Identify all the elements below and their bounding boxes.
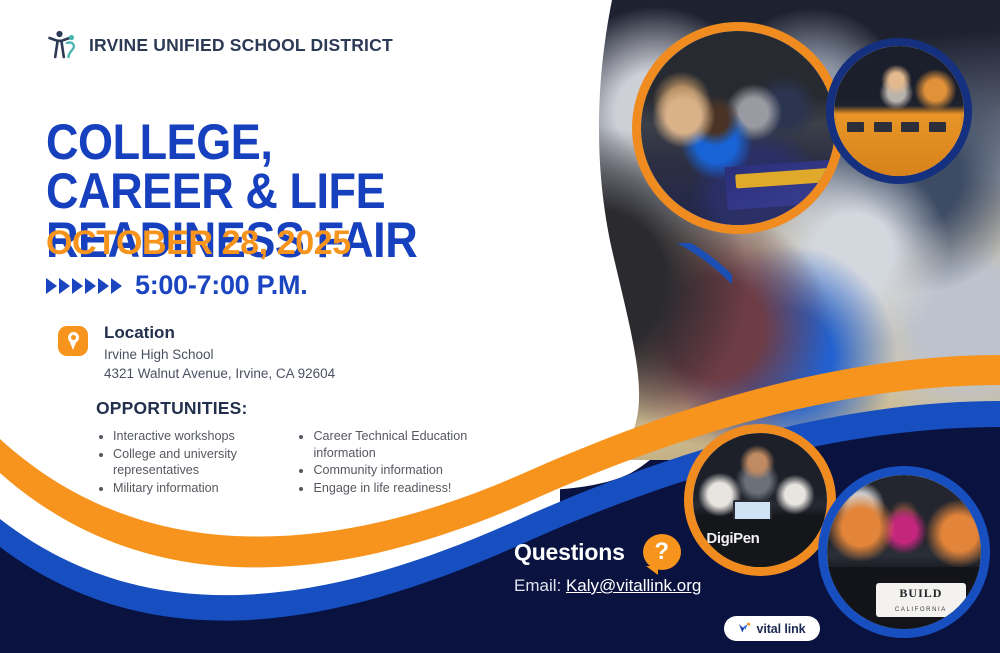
- flyer-canvas: DigiPen BUILD CALIFORNIA IRVIN: [0, 0, 1000, 653]
- email-link[interactable]: Kaly@vitallink.org: [566, 576, 701, 595]
- triangle-right-icon: [46, 278, 122, 294]
- question-mark-glyph: ?: [643, 534, 681, 570]
- digipen-table-skirt: DigiPen: [693, 519, 827, 567]
- district-brand: IRVINE UNIFIED SCHOOL DISTRICT: [46, 28, 393, 62]
- location-label: Location: [104, 323, 335, 343]
- list-item: Engage in life readiness!: [313, 480, 496, 497]
- photo-build-california-booth: BUILD CALIFORNIA: [827, 475, 981, 629]
- event-time-row: 5:00-7:00 P.M.: [46, 270, 307, 301]
- location-block: Location Irvine High School 4321 Walnut …: [58, 322, 335, 383]
- questions-label: Questions: [514, 539, 625, 566]
- location-text: Location Irvine High School 4321 Walnut …: [104, 322, 335, 383]
- location-address: 4321 Walnut Avenue, Irvine, CA 92604: [104, 364, 335, 383]
- list-item: Military information: [113, 480, 274, 497]
- event-date: OCTOBER 28, 2025: [46, 224, 351, 263]
- vital-link-v-icon: [738, 622, 751, 635]
- opportunities-column-1: Interactive workshops College and univer…: [96, 428, 274, 497]
- list-item: College and university representatives: [113, 446, 274, 479]
- list-item: Career Technical Education information: [313, 428, 496, 461]
- list-item: Interactive workshops: [113, 428, 274, 445]
- district-name: IRVINE UNIFIED SCHOOL DISTRICT: [89, 35, 393, 56]
- build-california-sign: BUILD CALIFORNIA: [876, 583, 965, 617]
- location-venue: Irvine High School: [104, 345, 335, 364]
- opportunities-title: OPPORTUNITIES:: [96, 398, 248, 419]
- orange-booth-table: [837, 114, 962, 176]
- rancho-cte-banner: [725, 159, 835, 210]
- photo-presenter-at-orange-table-booth: [834, 46, 964, 176]
- event-time: 5:00-7:00 P.M.: [135, 270, 307, 301]
- digipen-caption: DigiPen: [706, 530, 759, 547]
- map-pin-icon: [58, 326, 88, 356]
- iusd-person-logo-icon: [46, 28, 80, 62]
- photo-digipen-booth: DigiPen: [693, 433, 827, 567]
- email-label: Email:: [514, 576, 561, 595]
- questions-row: Questions ?: [514, 534, 681, 570]
- vital-link-name: vital link: [756, 622, 805, 636]
- email-row: Email: Kaly@vitallink.org: [514, 576, 701, 596]
- build-caption-sub: CALIFORNIA: [876, 607, 965, 613]
- opportunities-lists: Interactive workshops College and univer…: [96, 428, 496, 497]
- photo-students-at-rancho-cte-booth: [641, 31, 835, 225]
- build-caption: BUILD: [876, 586, 965, 601]
- list-item: Community information: [313, 462, 496, 479]
- flyer-content: IRVINE UNIFIED SCHOOL DISTRICT COLLEGE, …: [0, 0, 560, 653]
- question-bubble-icon: ?: [643, 534, 681, 570]
- headline-line-1: COLLEGE, CAREER & LIFE: [46, 114, 385, 219]
- opportunities-column-2: Career Technical Education information C…: [296, 428, 496, 497]
- vital-link-logo[interactable]: vital link: [724, 616, 820, 641]
